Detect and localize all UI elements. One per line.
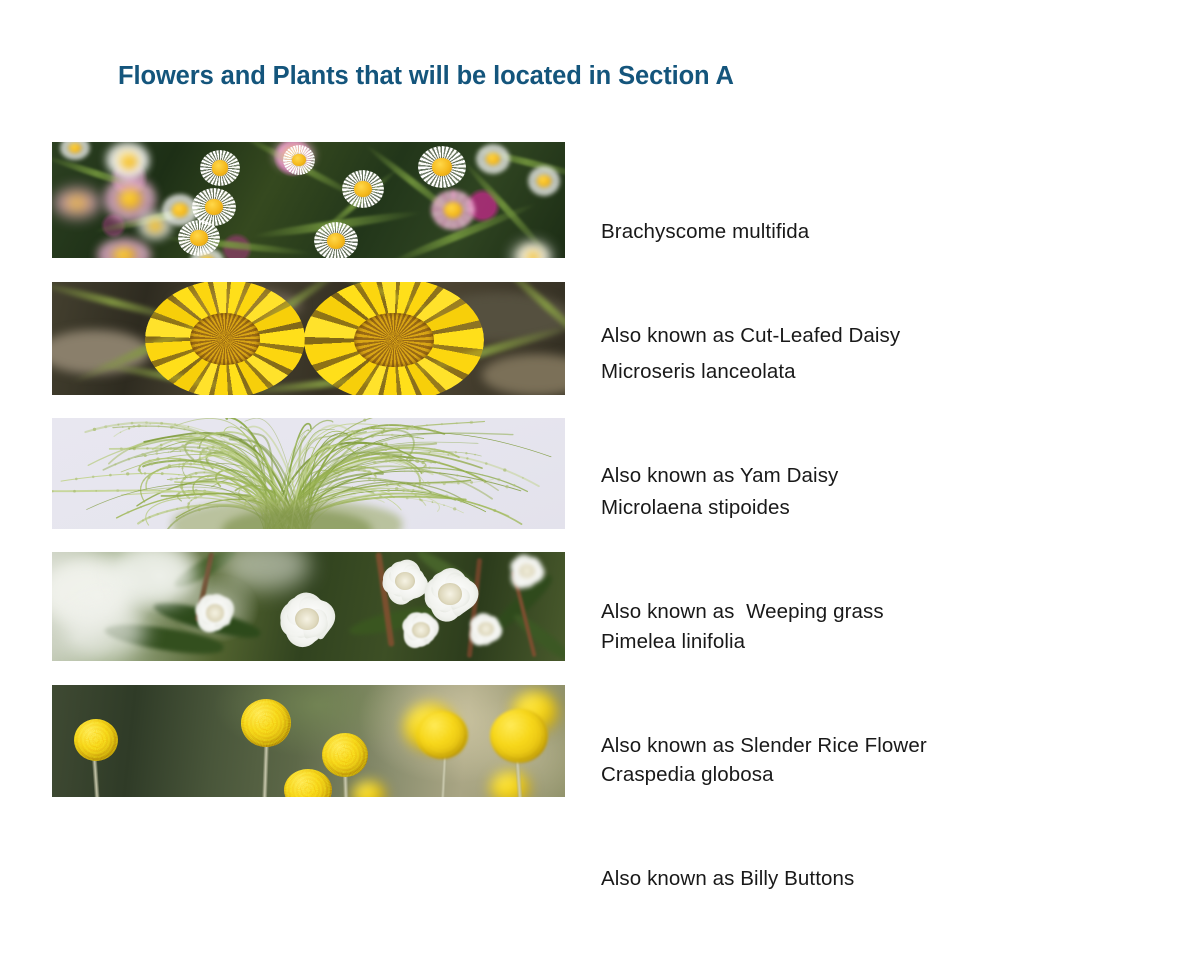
plant-scientific-name: Craspedia globosa bbox=[601, 758, 1161, 793]
plant-scientific-name: Pimelea linifolia bbox=[601, 625, 1161, 660]
plant-common-name: Also known as Billy Buttons bbox=[601, 862, 1161, 897]
microseris-lanceolata-photo bbox=[52, 282, 565, 395]
page-title: Flowers and Plants that will be located … bbox=[118, 62, 734, 91]
plant-scientific-name: Microlaena stipoides bbox=[601, 491, 1161, 526]
brachyscome-multifida-photo bbox=[52, 142, 565, 258]
pimelea-linifolia-photo bbox=[52, 552, 565, 661]
microlaena-stipoides-photo bbox=[52, 418, 565, 529]
plant-scientific-name: Microseris lanceolata bbox=[601, 355, 1161, 390]
plant-scientific-name: Brachyscome multifida bbox=[601, 215, 1161, 250]
craspedia-globosa-photo bbox=[52, 685, 565, 797]
plant-caption: Craspedia globosa Also known as Billy Bu… bbox=[601, 689, 1161, 965]
plant-list-page: Flowers and Plants that will be located … bbox=[0, 0, 1200, 848]
